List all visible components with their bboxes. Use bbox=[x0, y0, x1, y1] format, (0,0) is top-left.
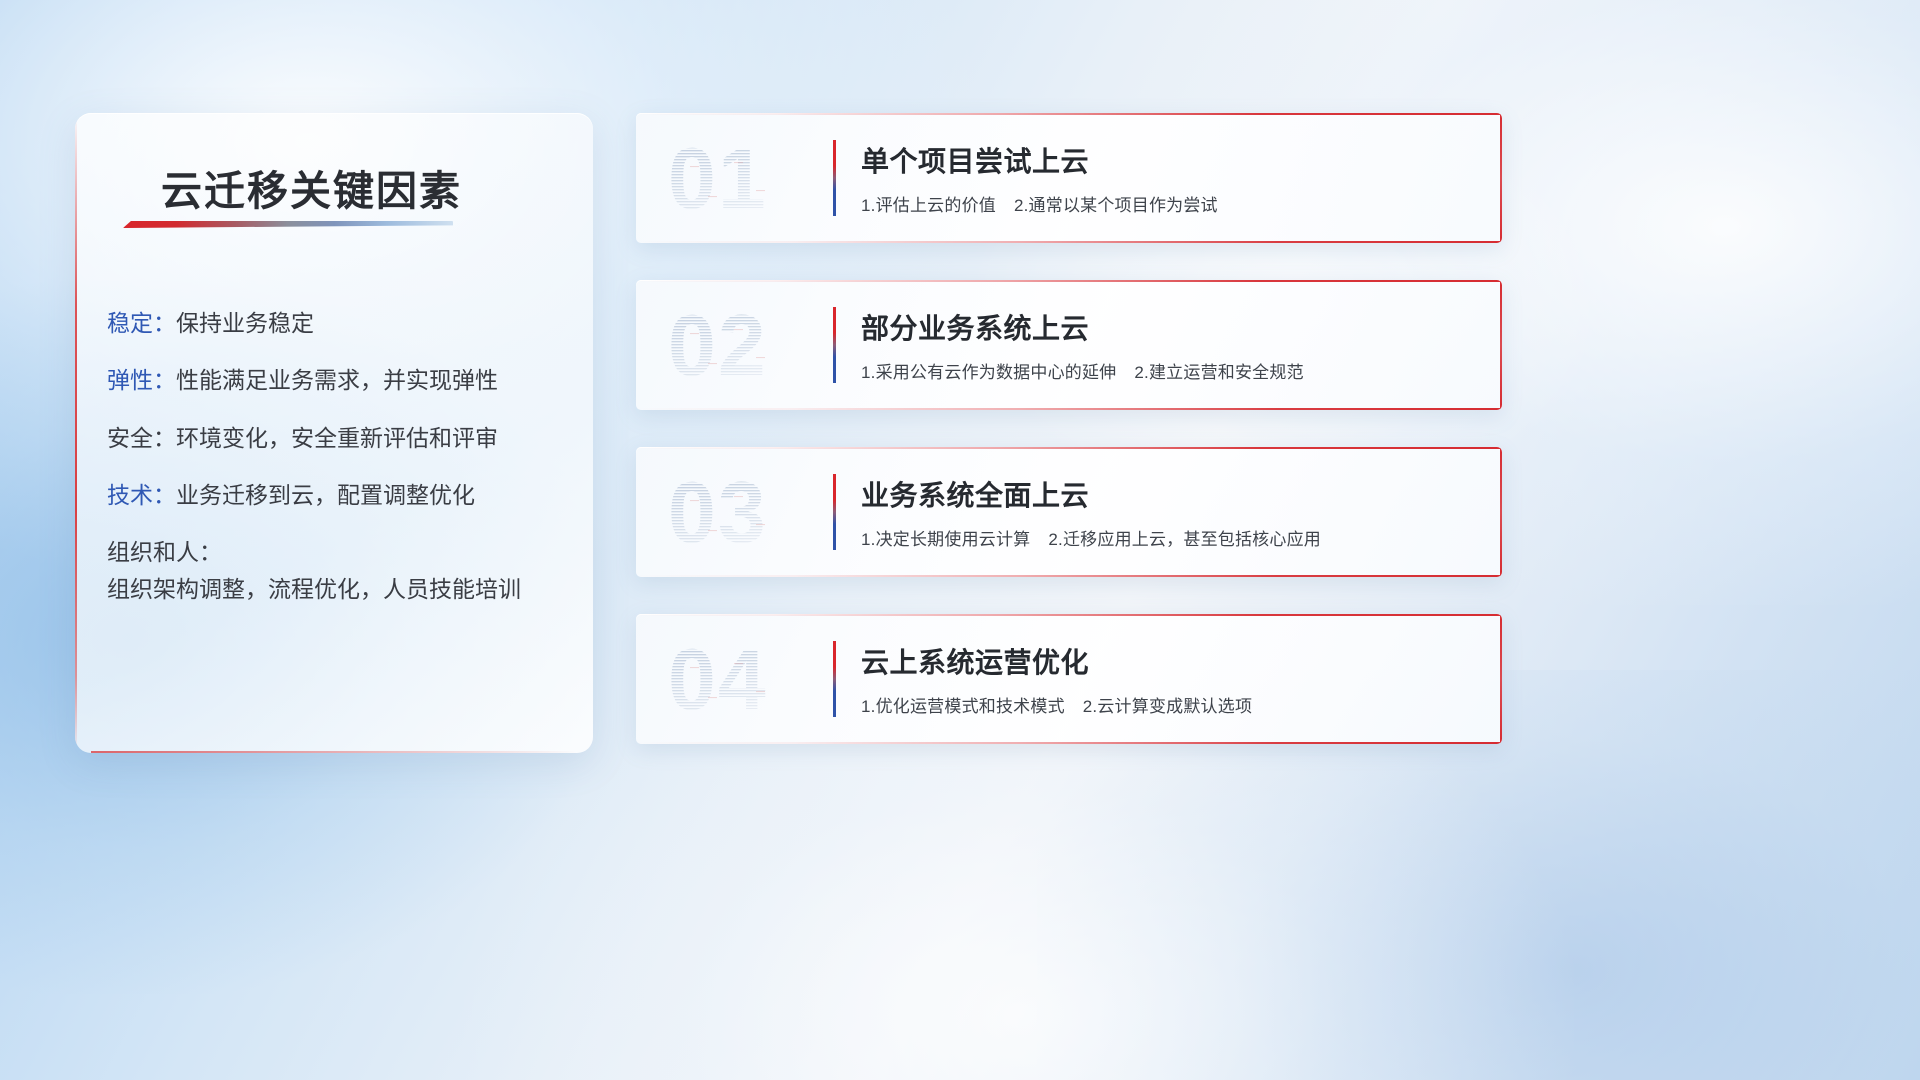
card-description: 1.评估上云的价值2.通常以某个项目作为尝试 bbox=[861, 191, 1474, 216]
card-point-2: 2.云计算变成默认选项 bbox=[1083, 697, 1252, 716]
factor-label: 安全： bbox=[107, 420, 176, 457]
factor-list: 稳定：保持业务稳定弹性：性能满足业务需求，并实现弹性安全：环境变化，安全重新评估… bbox=[107, 305, 569, 629]
card-title: 单个项目尝试上云 bbox=[861, 140, 1474, 180]
factor-description: 环境变化，安全重新评估和评审 bbox=[176, 420, 498, 457]
key-factors-panel: 云迁移关键因素 稳定：保持业务稳定弹性：性能满足业务需求，并实现弹性安全：环境变… bbox=[75, 113, 593, 753]
factor-description: 保持业务稳定 bbox=[176, 305, 314, 342]
svg-text:04: 04 bbox=[668, 633, 768, 725]
svg-text:02: 02 bbox=[668, 299, 768, 391]
factor-description: 业务迁移到云，配置调整优化 bbox=[176, 477, 475, 514]
factor-label: 组织和人： bbox=[107, 534, 222, 571]
card-title: 业务系统全面上云 bbox=[861, 474, 1474, 514]
factor-label: 弹性： bbox=[107, 362, 176, 399]
card-point-1: 1.决定长期使用云计算 bbox=[861, 530, 1030, 549]
card-right-accent-line bbox=[1500, 113, 1502, 243]
numeral-graphic: 04 bbox=[664, 633, 814, 725]
card-title: 部分业务系统上云 bbox=[861, 307, 1474, 347]
card-description: 1.优化运营模式和技术模式2.云计算变成默认选项 bbox=[861, 692, 1474, 717]
card-description: 1.决定长期使用云计算2.迁移应用上云，甚至包括核心应用 bbox=[861, 525, 1474, 550]
step-number-icon: 01 bbox=[664, 132, 814, 224]
numeral-graphic: 02 bbox=[664, 299, 814, 391]
card-top-accent-line bbox=[636, 280, 1502, 282]
stage-card[interactable]: 02部分业务系统上云1.采用公有云作为数据中心的延伸2.建立运营和安全规范 bbox=[636, 280, 1502, 410]
factor-label: 稳定： bbox=[107, 305, 176, 342]
card-point-1: 1.采用公有云作为数据中心的延伸 bbox=[861, 363, 1116, 382]
card-bottom-accent-line bbox=[636, 742, 1502, 744]
factor-item: 技术：业务迁移到云，配置调整优化 bbox=[107, 477, 569, 514]
factor-label: 技术： bbox=[107, 477, 176, 514]
step-number-icon: 02 bbox=[664, 299, 814, 391]
card-point-1: 1.评估上云的价值 bbox=[861, 196, 996, 215]
card-top-accent-line bbox=[636, 113, 1502, 115]
factor-item: 弹性：性能满足业务需求，并实现弹性 bbox=[107, 362, 569, 399]
factor-item: 安全：环境变化，安全重新评估和评审 bbox=[107, 420, 569, 457]
card-bottom-accent-line bbox=[636, 241, 1502, 243]
card-divider-bar bbox=[833, 140, 836, 216]
card-body: 云上系统运营优化1.优化运营模式和技术模式2.云计算变成默认选项 bbox=[861, 641, 1474, 717]
step-number-icon: 04 bbox=[664, 633, 814, 725]
page-title: 云迁移关键因素 bbox=[161, 157, 462, 217]
title-underline-gradient bbox=[123, 221, 453, 228]
card-body: 部分业务系统上云1.采用公有云作为数据中心的延伸2.建立运营和安全规范 bbox=[861, 307, 1474, 383]
svg-text:01: 01 bbox=[668, 132, 768, 224]
card-body: 业务系统全面上云1.决定长期使用云计算2.迁移应用上云，甚至包括核心应用 bbox=[861, 474, 1474, 550]
card-top-accent-line bbox=[636, 614, 1502, 616]
card-divider-bar bbox=[833, 474, 836, 550]
card-divider-bar bbox=[833, 307, 836, 383]
svg-text:03: 03 bbox=[668, 466, 768, 558]
card-description: 1.采用公有云作为数据中心的延伸2.建立运营和安全规范 bbox=[861, 358, 1474, 383]
card-point-2: 2.迁移应用上云，甚至包括核心应用 bbox=[1048, 530, 1321, 549]
step-number-icon: 03 bbox=[664, 466, 814, 558]
migration-stage-cards: 01单个项目尝试上云1.评估上云的价值2.通常以某个项目作为尝试02部分业务系统… bbox=[636, 113, 1502, 781]
card-body: 单个项目尝试上云1.评估上云的价值2.通常以某个项目作为尝试 bbox=[861, 140, 1474, 216]
card-right-accent-line bbox=[1500, 614, 1502, 744]
factor-description: 组织架构调整，流程优化，人员技能培训 bbox=[107, 571, 521, 608]
factor-item: 稳定：保持业务稳定 bbox=[107, 305, 569, 342]
card-point-1: 1.优化运营模式和技术模式 bbox=[861, 697, 1065, 716]
factor-description: 性能满足业务需求，并实现弹性 bbox=[176, 362, 498, 399]
card-point-2: 2.通常以某个项目作为尝试 bbox=[1014, 196, 1218, 215]
factor-item: 组织和人：组织架构调整，流程优化，人员技能培训 bbox=[107, 534, 569, 609]
card-divider-bar bbox=[833, 641, 836, 717]
card-top-accent-line bbox=[636, 447, 1502, 449]
stage-card[interactable]: 01单个项目尝试上云1.评估上云的价值2.通常以某个项目作为尝试 bbox=[636, 113, 1502, 243]
card-point-2: 2.建立运营和安全规范 bbox=[1134, 363, 1303, 382]
stage-card[interactable]: 04云上系统运营优化1.优化运营模式和技术模式2.云计算变成默认选项 bbox=[636, 614, 1502, 744]
card-right-accent-line bbox=[1500, 447, 1502, 577]
stage-card[interactable]: 03业务系统全面上云1.决定长期使用云计算2.迁移应用上云，甚至包括核心应用 bbox=[636, 447, 1502, 577]
card-bottom-accent-line bbox=[636, 575, 1502, 577]
card-title: 云上系统运营优化 bbox=[861, 641, 1474, 681]
card-bottom-accent-line bbox=[636, 408, 1502, 410]
slide-stage: 云迁移关键因素 稳定：保持业务稳定弹性：性能满足业务需求，并实现弹性安全：环境变… bbox=[0, 0, 1920, 1080]
card-right-accent-line bbox=[1500, 280, 1502, 410]
numeral-graphic: 03 bbox=[664, 466, 814, 558]
numeral-graphic: 01 bbox=[664, 132, 814, 224]
